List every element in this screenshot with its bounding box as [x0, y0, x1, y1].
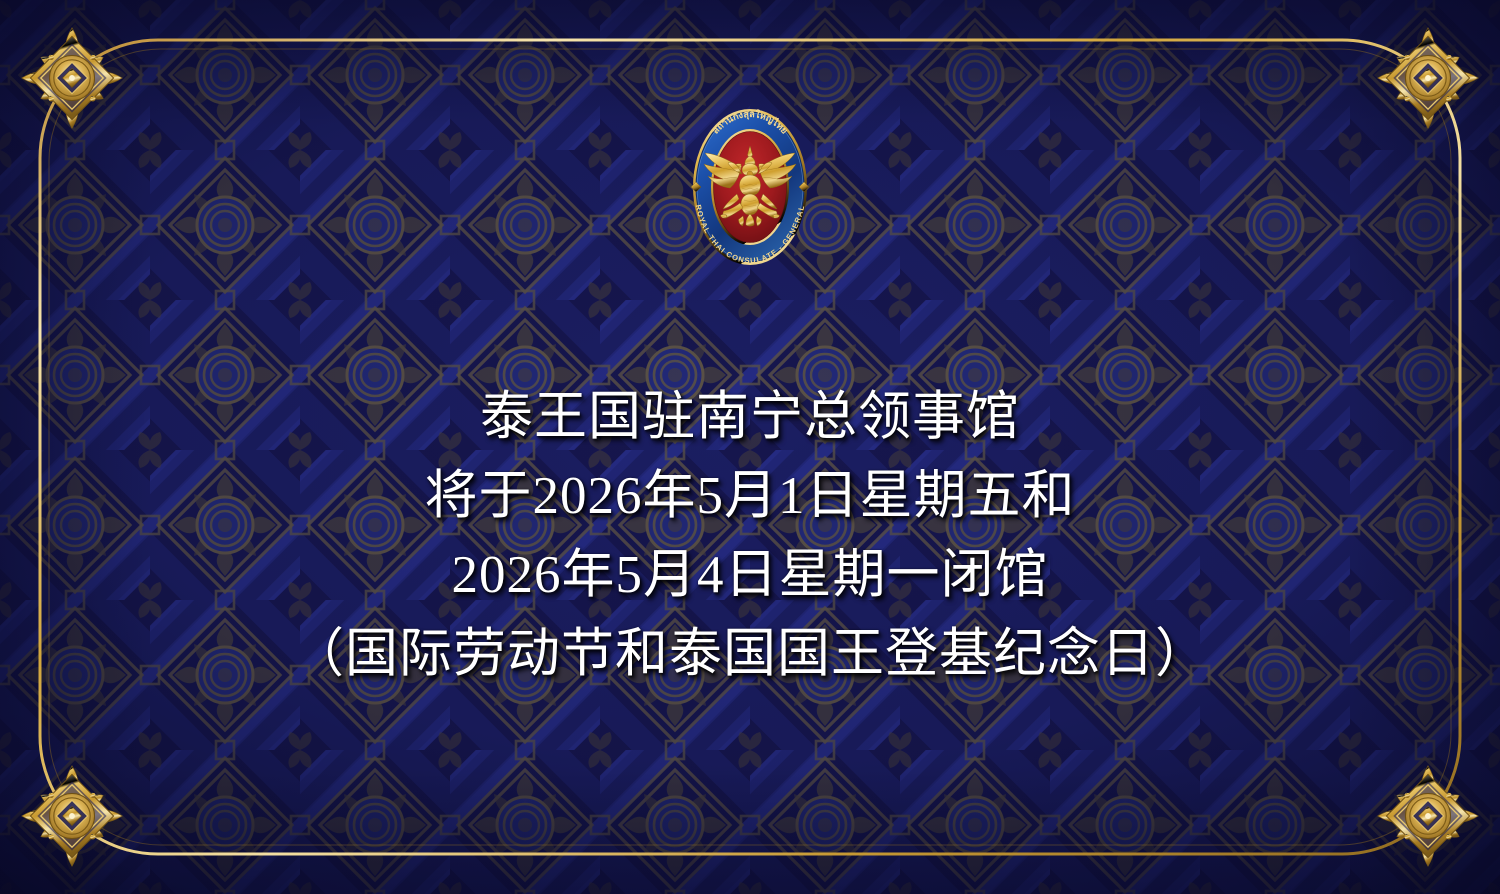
notice-line-3: 2026年5月4日星期一闭馆 — [0, 536, 1500, 615]
corner-ornament-bottom-left — [20, 764, 124, 868]
notice-line-4: （国际劳动节和泰国国王登基纪念日） — [0, 615, 1500, 694]
notice-line-1: 泰王国驻南宁总领事馆 — [0, 378, 1500, 457]
corner-ornament-bottom-right — [1376, 764, 1480, 868]
closure-notice-text: 泰王国驻南宁总领事馆 将于2026年5月1日星期五和 2026年5月4日星期一闭… — [0, 378, 1500, 694]
notice-line-2: 将于2026年5月1日星期五和 — [0, 457, 1500, 536]
corner-ornament-top-left — [20, 26, 124, 130]
royal-thai-consulate-general-emblem: สถานกงสุลใหญ่ไทย ROYAL THAI CONSULATE - … — [679, 96, 821, 278]
corner-ornament-top-right — [1376, 26, 1480, 130]
poster-canvas: สถานกงสุลใหญ่ไทย ROYAL THAI CONSULATE - … — [0, 0, 1500, 894]
